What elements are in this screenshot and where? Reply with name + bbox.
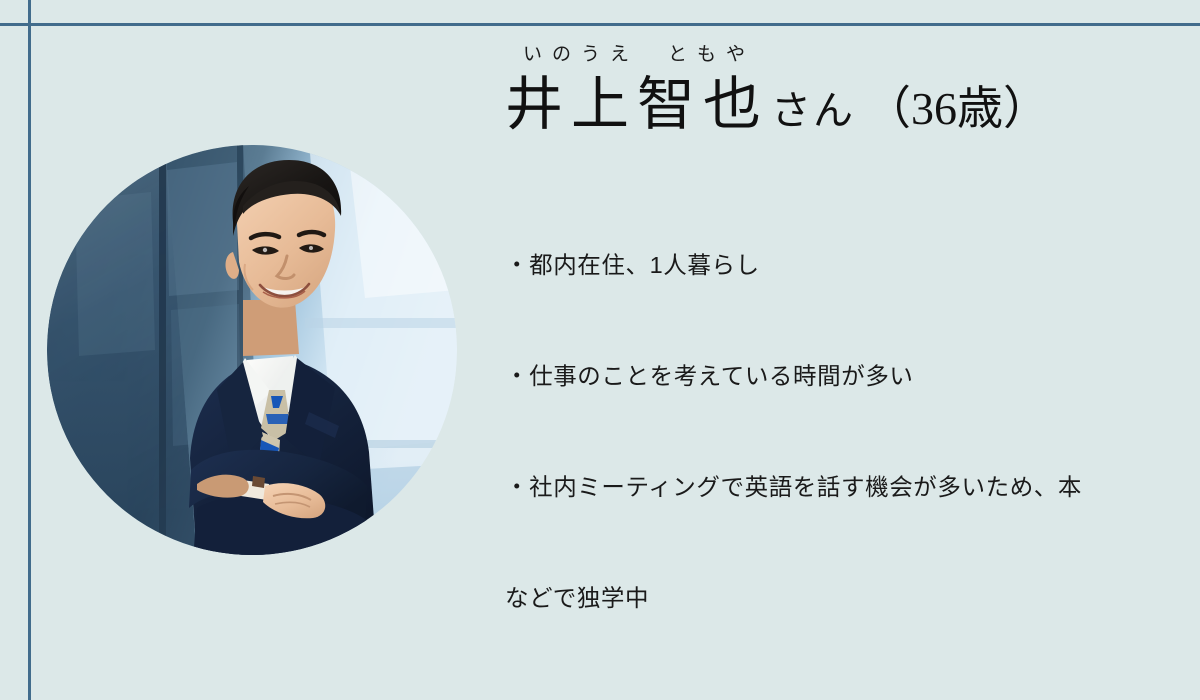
profile-card: いのうえ ともや 井上智也 さん （36歳） ・都内在住、1人暮らし ・仕事のこ… bbox=[0, 0, 1200, 700]
page-title: 井上智也 さん （36歳） bbox=[505, 72, 1175, 139]
bullet-english-meetings: ・社内ミーティングで英語を話す機会が多いため、本 bbox=[505, 469, 1175, 506]
profile-name-suffix: さん bbox=[771, 78, 855, 136]
profile-age: （36歳） bbox=[865, 72, 1049, 138]
top-horizontal-rule bbox=[0, 23, 1200, 26]
profile-bullets: ・都内在住、1人暮らし ・仕事のことを考えている時間が多い ・社内ミーティングで… bbox=[505, 173, 1175, 691]
portrait-photo bbox=[47, 140, 457, 560]
bullet-work-thoughts: ・仕事のことを考えている時間が多い bbox=[505, 358, 1175, 395]
name-furigana: いのうえ ともや bbox=[505, 40, 1175, 70]
left-vertical-rule bbox=[28, 0, 31, 700]
profile-text-column: いのうえ ともや 井上智也 さん （36歳） ・都内在住、1人暮らし ・仕事のこ… bbox=[505, 40, 1175, 700]
bullet-english-meetings-cont: などで独学中 bbox=[505, 580, 1175, 617]
bullet-residence: ・都内在住、1人暮らし bbox=[505, 247, 1175, 284]
profile-name: 井上智也 bbox=[505, 72, 769, 139]
